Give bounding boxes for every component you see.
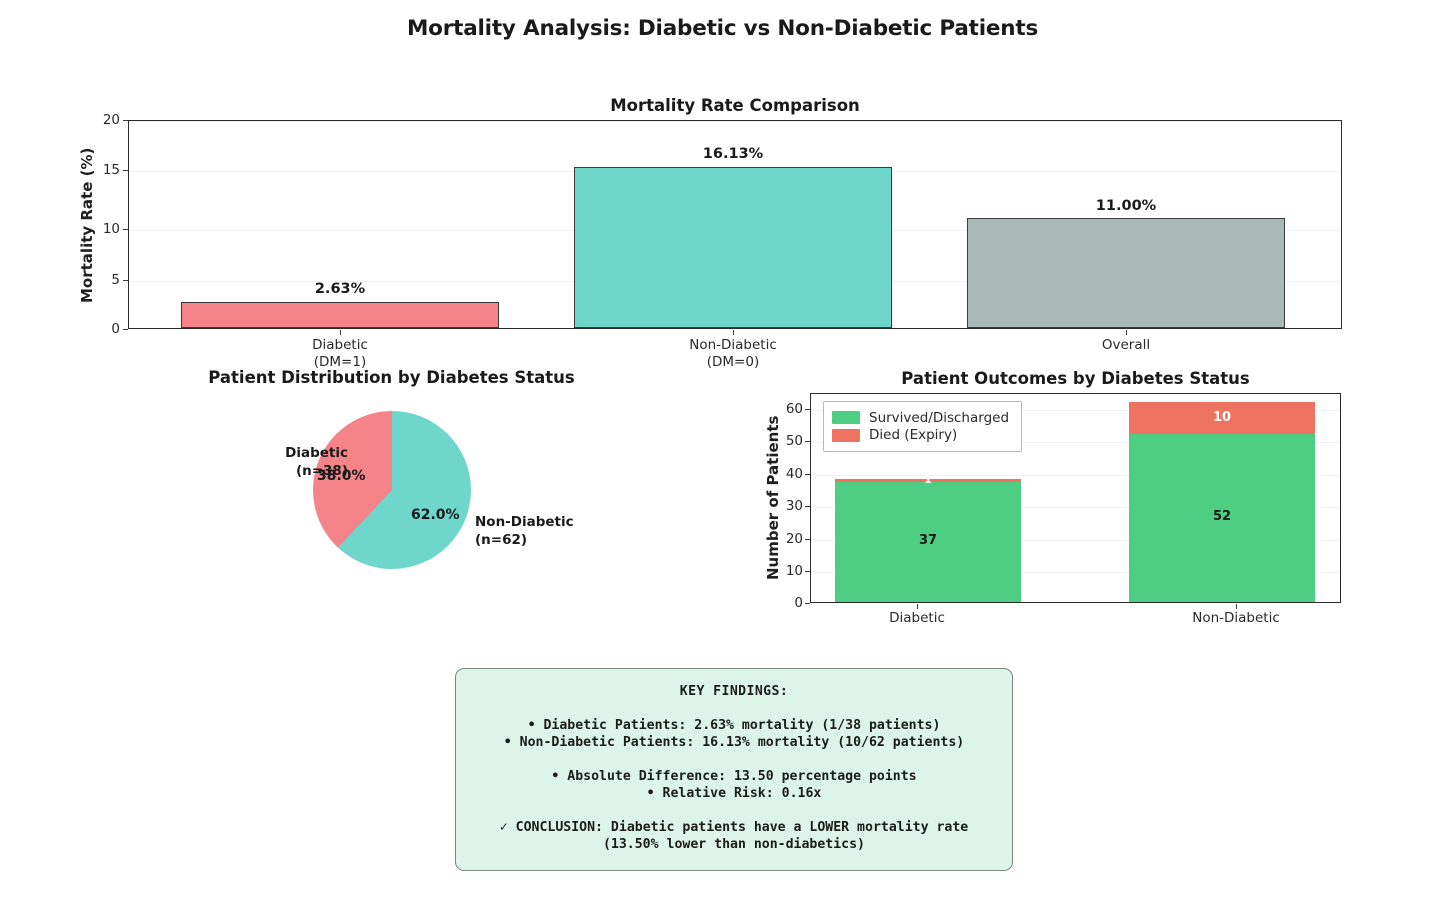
chart3-ytick-10: 10: [779, 563, 803, 579]
chart3-xtickmark-non-diabetic: [1236, 604, 1237, 609]
legend-item-died[interactable]: Died (Expiry): [832, 427, 1009, 443]
chart1-xtick-non-diabetic-line1: Non-Diabetic: [574, 337, 892, 354]
findings-conclusion-line2: (13.50% lower than non-diabetics): [466, 836, 1002, 854]
chart3-xtick-non-diabetic: Non-Diabetic: [1143, 610, 1329, 627]
pie-label-non-diabetic: Non-Diabetic (n=62): [475, 514, 574, 549]
stacked-value-diabetic-survived: 37: [835, 533, 1021, 548]
chart1-xtickmark-diabetic: [340, 330, 341, 335]
legend-swatch-survived-icon: [832, 411, 860, 424]
stacked-value-diabetic-died: 1: [835, 473, 1021, 486]
chart3-ytick-40: 40: [779, 466, 803, 482]
bar-diabetic[interactable]: [181, 302, 499, 328]
stacked-bar-diabetic[interactable]: 37 1: [835, 479, 1021, 602]
bar-overall-value-label: 11.00%: [967, 198, 1285, 214]
chart3-xtickmark-diabetic: [917, 604, 918, 609]
chart1-xtickmark-non-diabetic: [733, 330, 734, 335]
chart3-ytick-50: 50: [779, 433, 803, 449]
stacked-value-non-diabetic-died: 10: [1129, 410, 1315, 425]
legend-item-survived[interactable]: Survived/Discharged: [832, 410, 1009, 426]
findings-bullet-diabetic: • Diabetic Patients: 2.63% mortality (1/…: [466, 717, 1002, 735]
chart1-gridline-20: [129, 121, 1341, 122]
pie-chart[interactable]: [313, 411, 471, 569]
pie-label-diabetic-line1: Diabetic: [236, 445, 348, 463]
key-findings-box: KEY FINDINGS: • Diabetic Patients: 2.63%…: [455, 668, 1013, 871]
legend-label-survived: Survived/Discharged: [869, 410, 1009, 426]
pie-label-non-diabetic-line2: (n=62): [475, 532, 574, 550]
chart2-title: Patient Distribution by Diabetes Status: [128, 368, 655, 387]
chart1-ytick-10: 10: [96, 221, 120, 237]
stacked-value-non-diabetic-survived: 52: [1129, 509, 1315, 524]
chart1-xtick-non-diabetic: Non-Diabetic (DM=0): [574, 337, 892, 371]
chart1-xtick-overall: Overall: [967, 337, 1285, 354]
chart3-title: Patient Outcomes by Diabetes Status: [810, 369, 1341, 388]
findings-spacer-2: [466, 803, 1002, 819]
chart3-ytick-60: 60: [779, 401, 803, 417]
legend-swatch-died-icon: [832, 429, 860, 442]
chart1-ytickmark-0: [123, 329, 128, 330]
legend-label-died: Died (Expiry): [869, 427, 957, 443]
findings-heading: KEY FINDINGS:: [466, 683, 1002, 701]
chart3-ytick-30: 30: [779, 498, 803, 514]
chart1-ytick-0: 0: [96, 321, 120, 337]
bar-diabetic-value-label: 2.63%: [181, 281, 499, 297]
findings-stat-absolute-difference: • Absolute Difference: 13.50 percentage …: [466, 768, 1002, 786]
bar-overall[interactable]: [967, 218, 1285, 328]
chart1-ytick-5: 5: [96, 272, 120, 288]
bar-non-diabetic[interactable]: [574, 167, 892, 328]
bar-non-diabetic-value-label: 16.13%: [574, 146, 892, 162]
chart3-xtick-diabetic: Diabetic: [824, 610, 1010, 627]
chart1-xtick-diabetic: Diabetic (DM=1): [181, 337, 499, 371]
chart3-ytick-20: 20: [779, 531, 803, 547]
findings-conclusion-line1: ✓ CONCLUSION: Diabetic patients have a L…: [466, 819, 1002, 837]
chart1-ytick-15: 15: [96, 162, 120, 178]
chart3-legend: Survived/Discharged Died (Expiry): [823, 401, 1022, 452]
chart1-ytick-20: 20: [96, 112, 120, 128]
pie-label-diabetic: Diabetic (n=38): [236, 445, 348, 480]
chart1-title: Mortality Rate Comparison: [128, 96, 1342, 115]
findings-spacer-1: [466, 752, 1002, 768]
figure-title: Mortality Analysis: Diabetic vs Non-Diab…: [0, 16, 1445, 41]
findings-bullet-non-diabetic: • Non-Diabetic Patients: 16.13% mortalit…: [466, 734, 1002, 752]
findings-stat-relative-risk: • Relative Risk: 0.16x: [466, 785, 1002, 803]
chart1-xtickmark-overall: [1126, 330, 1127, 335]
stacked-bar-non-diabetic[interactable]: 52 10: [1129, 402, 1315, 602]
chart3-ytick-0: 0: [779, 595, 803, 611]
pie-label-non-diabetic-line1: Non-Diabetic: [475, 514, 574, 532]
chart3-plot-area: Survived/Discharged Died (Expiry) 37 1 5…: [810, 393, 1341, 603]
chart3-ytickmark-0: [805, 603, 810, 604]
pie-slice-non-diabetic-percent: 62.0%: [411, 507, 460, 523]
chart1-y-axis-label: Mortality Rate (%): [78, 128, 96, 322]
chart1-xtick-overall-line1: Overall: [967, 337, 1285, 354]
chart1-xtick-diabetic-line1: Diabetic: [181, 337, 499, 354]
pie-label-diabetic-line2: (n=38): [236, 463, 348, 481]
